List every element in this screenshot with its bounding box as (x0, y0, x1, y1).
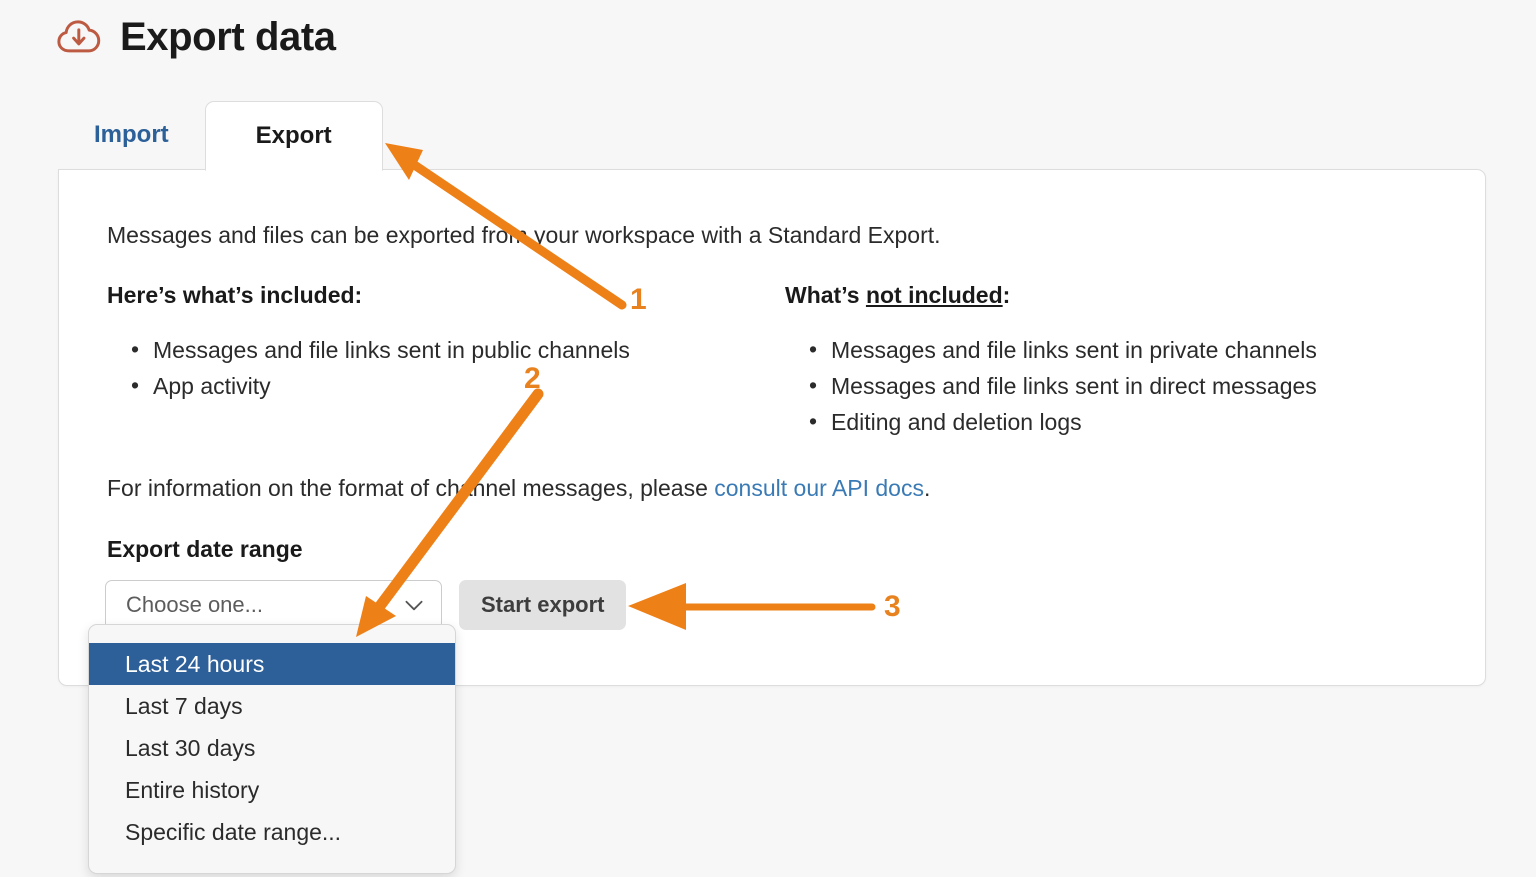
export-controls: Choose one... Start export (105, 580, 626, 630)
not-included-list: Messages and file links sent in private … (785, 333, 1445, 441)
included-heading: Here’s what’s included: (107, 282, 785, 309)
tab-import[interactable]: Import (58, 100, 205, 170)
list-item: Messages and file links sent in public c… (107, 333, 785, 369)
dropdown-option-last-24-hours[interactable]: Last 24 hours (89, 643, 455, 685)
not-included-heading-suffix: : (1003, 282, 1011, 308)
tab-import-label: Import (94, 121, 169, 149)
dropdown-option-last-7-days[interactable]: Last 7 days (89, 685, 455, 727)
not-included-heading: What’s not included: (785, 282, 1445, 309)
not-included-heading-prefix: What’s (785, 282, 866, 308)
export-panel: Messages and files can be exported from … (58, 169, 1486, 686)
cloud-download-icon (56, 14, 102, 60)
api-docs-note: For information on the format of channel… (107, 475, 930, 502)
not-included-heading-underlined: not included (866, 282, 1003, 308)
dropdown-option-specific-date-range[interactable]: Specific date range... (89, 811, 455, 853)
tab-bar: Import Export (58, 100, 383, 170)
api-docs-link[interactable]: consult our API docs (714, 475, 924, 501)
dropdown-option-entire-history[interactable]: Entire history (89, 769, 455, 811)
list-item: Messages and file links sent in direct m… (785, 369, 1445, 405)
start-export-button[interactable]: Start export (459, 580, 626, 630)
page-header: Export data (56, 14, 336, 60)
chevron-down-icon (401, 592, 427, 618)
included-column: Here’s what’s included: Messages and fil… (107, 282, 785, 441)
tab-export[interactable]: Export (205, 101, 383, 171)
included-list: Messages and file links sent in public c… (107, 333, 785, 405)
page-title: Export data (120, 17, 336, 57)
list-item: Editing and deletion logs (785, 405, 1445, 441)
list-item: Messages and file links sent in private … (785, 333, 1445, 369)
intro-text: Messages and files can be exported from … (107, 221, 941, 251)
date-range-dropdown-menu[interactable]: Last 24 hours Last 7 days Last 30 days E… (88, 624, 456, 874)
tab-export-label: Export (256, 122, 332, 150)
api-note-text-before: For information on the format of channel… (107, 475, 714, 501)
list-item: App activity (107, 369, 785, 405)
dropdown-option-last-30-days[interactable]: Last 30 days (89, 727, 455, 769)
not-included-column: What’s not included: Messages and file l… (785, 282, 1445, 441)
api-note-text-after: . (924, 475, 930, 501)
date-range-select-value: Choose one... (126, 592, 401, 618)
date-range-select[interactable]: Choose one... (105, 580, 442, 630)
export-date-range-label: Export date range (107, 536, 303, 563)
inclusion-columns: Here’s what’s included: Messages and fil… (107, 282, 1447, 441)
